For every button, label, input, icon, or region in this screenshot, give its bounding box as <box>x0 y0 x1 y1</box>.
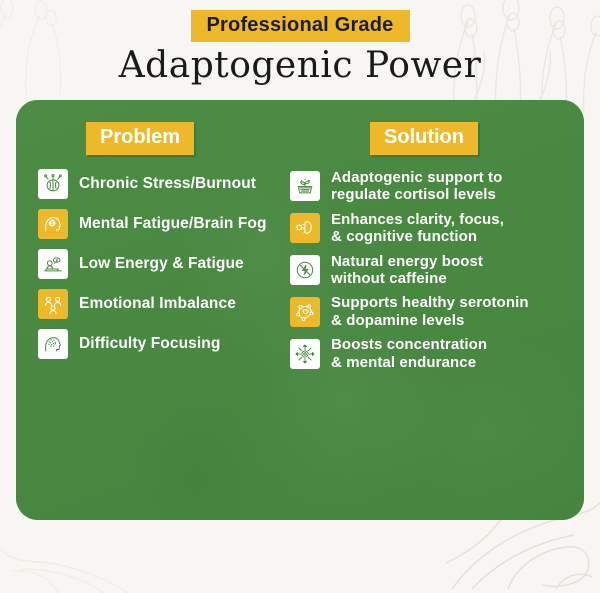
list-item: Boosts concentration & mental endurance <box>290 336 584 371</box>
problem-list: Chronic Stress/Burnout Mental Fatigue/Br… <box>38 169 284 359</box>
page-title: Adaptogenic Power <box>0 46 600 86</box>
list-item-label: Emotional Imbalance <box>79 295 236 313</box>
solution-list: Adaptogenic support to regulate cortisol… <box>290 169 584 371</box>
list-item: Supports healthy serotonin & dopamine le… <box>290 294 584 329</box>
list-item-label: Adaptogenic support to regulate cortisol… <box>331 169 502 204</box>
list-item: Adaptogenic support to regulate cortisol… <box>290 169 584 204</box>
solution-column: Solution <box>284 100 584 520</box>
list-item: Emotional Imbalance <box>38 289 284 319</box>
herbal-plant-pot-icon <box>290 171 320 201</box>
solution-badge: Solution <box>370 122 478 155</box>
problem-column: Problem Chronic Stress/Burnout <box>16 100 284 520</box>
header: Professional Grade Adaptogenic Power <box>0 0 600 86</box>
brain-gear-icon <box>290 213 320 243</box>
focus-burst-icon <box>290 339 320 369</box>
list-item-label: Enhances clarity, focus, & cognitive fun… <box>331 211 504 246</box>
list-item: Enhances clarity, focus, & cognitive fun… <box>290 211 584 246</box>
problem-badge: Problem <box>86 122 194 155</box>
comparison-panel: Problem Chronic Stress/Burnout <box>16 100 584 520</box>
mood-swing-people-icon <box>38 289 68 319</box>
list-item-label: Supports healthy serotonin & dopamine le… <box>331 294 529 329</box>
list-item: Low Energy & Fatigue <box>38 249 284 279</box>
head-brain-icon <box>38 209 68 239</box>
stressed-brain-icon <box>38 169 68 199</box>
tired-person-desk-icon <box>38 249 68 279</box>
list-item: Difficulty Focusing <box>38 329 284 359</box>
molecule-heart-icon <box>290 297 320 327</box>
list-item: Chronic Stress/Burnout <box>38 169 284 199</box>
list-item: Mental Fatigue/Brain Fog <box>38 209 284 239</box>
list-item-label: Natural energy boost without caffeine <box>331 253 483 288</box>
list-item-label: Difficulty Focusing <box>79 335 220 353</box>
list-item-label: Chronic Stress/Burnout <box>79 175 256 193</box>
list-item: Natural energy boost without caffeine <box>290 253 584 288</box>
list-item-label: Low Energy & Fatigue <box>79 255 244 273</box>
no-caffeine-bolt-icon <box>290 255 320 285</box>
eyebrow-badge: Professional Grade <box>191 10 410 42</box>
list-item-label: Mental Fatigue/Brain Fog <box>79 215 267 233</box>
list-item-label: Boosts concentration & mental endurance <box>331 336 487 371</box>
unfocused-head-icon <box>38 329 68 359</box>
